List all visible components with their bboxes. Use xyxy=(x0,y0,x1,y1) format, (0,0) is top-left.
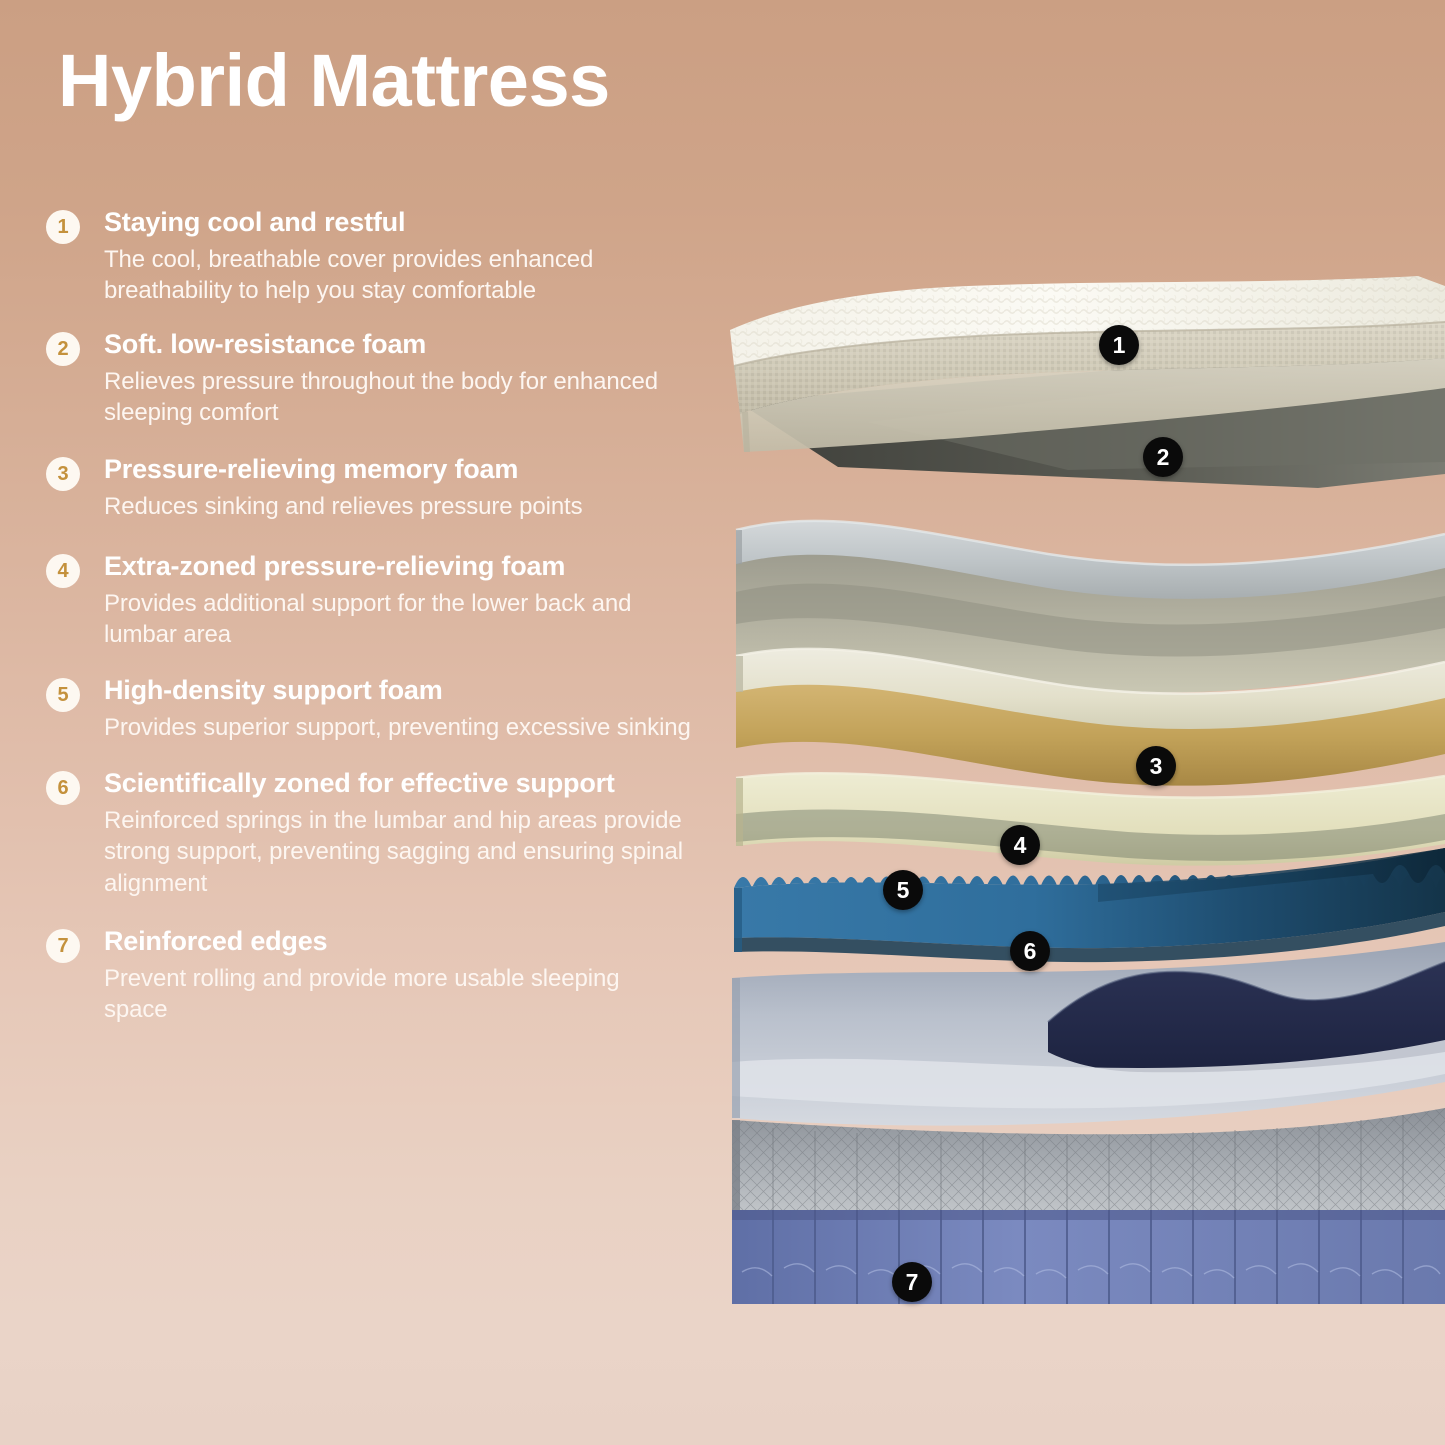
infographic-poster: Hybrid Mattress 1 Staying cool and restf… xyxy=(0,0,1445,1445)
feature-item-5: 5 High-density support foam Provides sup… xyxy=(46,674,776,743)
feature-description-4: Provides additional support for the lowe… xyxy=(104,588,704,650)
feature-description-5: Provides superior support, preventing ex… xyxy=(104,712,734,743)
diagram-marker-5[interactable]: 5 xyxy=(883,870,923,910)
feature-badge-6: 6 xyxy=(46,771,80,805)
feature-badge-5: 5 xyxy=(46,678,80,712)
feature-description-2: Relieves pressure throughout the body fo… xyxy=(104,366,664,428)
layer-extra-zoned-foam xyxy=(736,773,1445,865)
feature-item-3: 3 Pressure-relieving memory foam Reduces… xyxy=(46,453,776,522)
mattress-exploded-diagram: 1 2 3 4 5 6 7 xyxy=(718,262,1445,1304)
feature-list: 1 Staying cool and restful The cool, bre… xyxy=(46,206,776,1025)
feature-badge-4: 4 xyxy=(46,554,80,588)
feature-item-1: 1 Staying cool and restful The cool, bre… xyxy=(46,206,776,306)
feature-title-5: High-density support foam xyxy=(104,674,776,707)
feature-badge-1: 1 xyxy=(46,210,80,244)
diagram-marker-6[interactable]: 6 xyxy=(1010,931,1050,971)
feature-badge-7: 7 xyxy=(46,929,80,963)
diagram-marker-4[interactable]: 4 xyxy=(1000,825,1040,865)
feature-title-4: Extra-zoned pressure-relieving foam xyxy=(104,550,776,583)
page-title: Hybrid Mattress xyxy=(58,44,610,118)
diagram-marker-2[interactable]: 2 xyxy=(1143,437,1183,477)
diagram-marker-7[interactable]: 7 xyxy=(892,1262,932,1302)
feature-title-3: Pressure-relieving memory foam xyxy=(104,453,776,486)
feature-title-2: Soft. low-resistance foam xyxy=(104,328,776,361)
feature-description-7: Prevent rolling and provide more usable … xyxy=(104,963,624,1025)
feature-description-6: Reinforced springs in the lumbar and hip… xyxy=(104,805,704,899)
feature-item-4: 4 Extra-zoned pressure-relieving foam Pr… xyxy=(46,550,776,650)
diagram-marker-1[interactable]: 1 xyxy=(1099,325,1139,365)
layer-high-density-support-foam xyxy=(732,942,1445,1126)
feature-description-1: The cool, breathable cover provides enha… xyxy=(104,244,724,306)
feature-title-6: Scientifically zoned for effective suppo… xyxy=(104,767,776,800)
feature-title-1: Staying cool and restful xyxy=(104,206,776,239)
feature-item-2: 2 Soft. low-resistance foam Relieves pre… xyxy=(46,328,776,428)
layer-pocket-coil-springs xyxy=(732,1210,1445,1304)
diagram-marker-3[interactable]: 3 xyxy=(1136,746,1176,786)
feature-badge-3: 3 xyxy=(46,457,80,491)
feature-title-7: Reinforced edges xyxy=(104,925,776,958)
feature-badge-2: 2 xyxy=(46,332,80,366)
feature-description-3: Reduces sinking and relieves pressure po… xyxy=(104,491,724,522)
layer-quilted-cover xyxy=(730,276,1445,488)
feature-item-6: 6 Scientifically zoned for effective sup… xyxy=(46,767,776,899)
feature-item-7: 7 Reinforced edges Prevent rolling and p… xyxy=(46,925,776,1025)
